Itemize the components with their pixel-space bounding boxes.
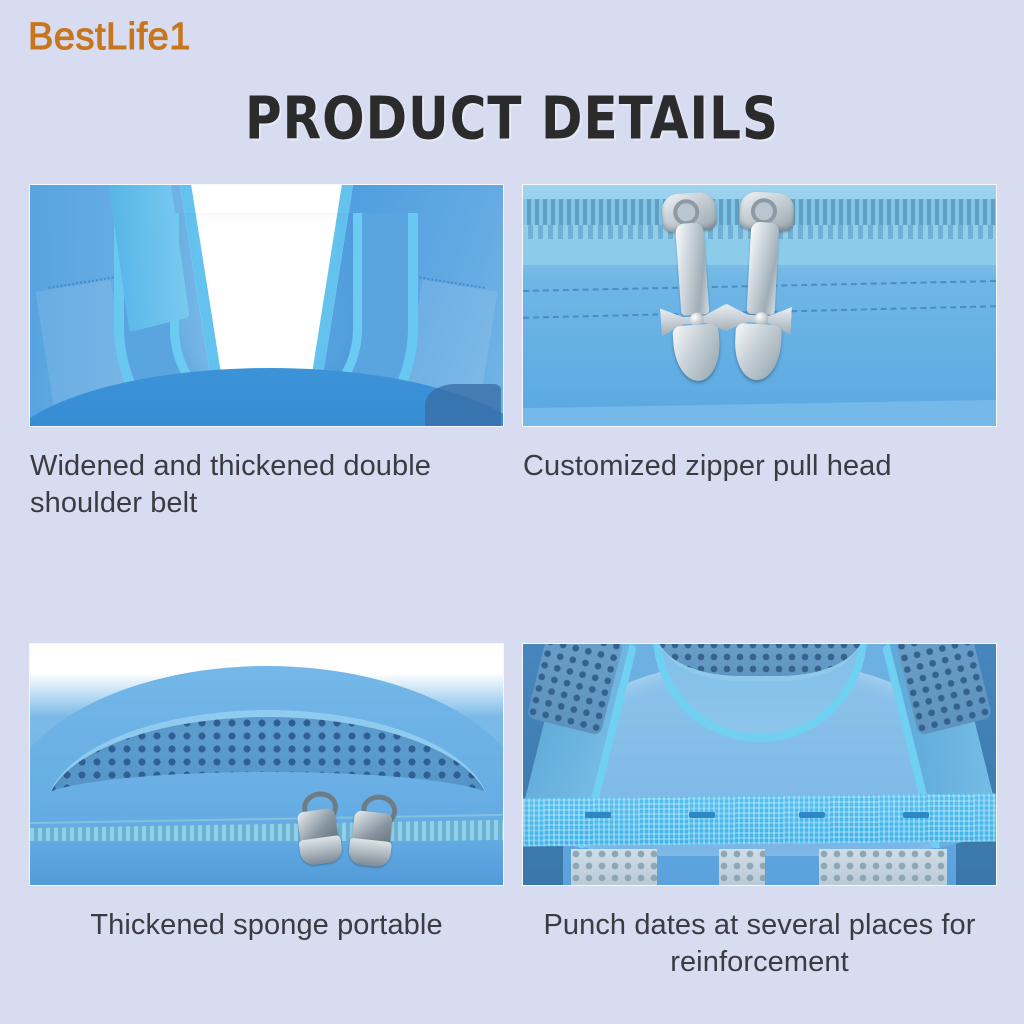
mesh-pocket	[819, 849, 947, 885]
page-title: PRODUCT DETAILS	[0, 84, 1024, 152]
zipper-pull-tip	[672, 323, 722, 382]
photo-zipper-pull-head	[523, 185, 996, 426]
zipper-pull-bar	[747, 222, 780, 315]
feature-card-punch-reinforcement: Punch dates at several places for reinfo…	[523, 644, 996, 981]
bar-tack-stitch	[585, 812, 611, 818]
caption-shoulder-belt: Widened and thickened double shoulder be…	[30, 448, 503, 522]
clip-foot	[347, 838, 391, 868]
photo-shoulder-belt	[30, 185, 503, 426]
photo-sponge-portable	[30, 644, 503, 885]
feature-card-shoulder-belt: Widened and thickened double shoulder be…	[30, 185, 503, 522]
zipper-clip-left	[291, 790, 345, 869]
webbing-strap	[523, 794, 996, 847]
mesh-pocket	[719, 849, 765, 885]
zipper-clip-right	[346, 792, 397, 870]
feature-card-zipper-pull-head: Customized zipper pull head	[523, 185, 996, 522]
bar-tack-stitch	[903, 812, 929, 818]
mesh-pocket	[571, 849, 657, 885]
brand-logo: BestLife1	[28, 18, 191, 56]
bar-tack-stitch	[799, 812, 825, 818]
mesh-corner	[425, 384, 501, 426]
caption-punch-reinforcement: Punch dates at several places for reinfo…	[523, 907, 996, 981]
fabric-bottom	[30, 841, 503, 885]
caption-zipper-pull-head: Customized zipper pull head	[523, 448, 996, 485]
bar-tack-stitch	[689, 812, 715, 818]
feature-card-sponge-portable: Thickened sponge portable	[30, 644, 503, 981]
caption-sponge-portable: Thickened sponge portable	[30, 907, 503, 944]
feature-grid: Widened and thickened double shoulder be…	[30, 185, 996, 981]
clip-foot	[298, 835, 343, 867]
zipper-pull-tip	[733, 323, 782, 381]
fabric-bottom-edge	[523, 399, 996, 426]
photo-punch-reinforcement	[523, 644, 996, 885]
